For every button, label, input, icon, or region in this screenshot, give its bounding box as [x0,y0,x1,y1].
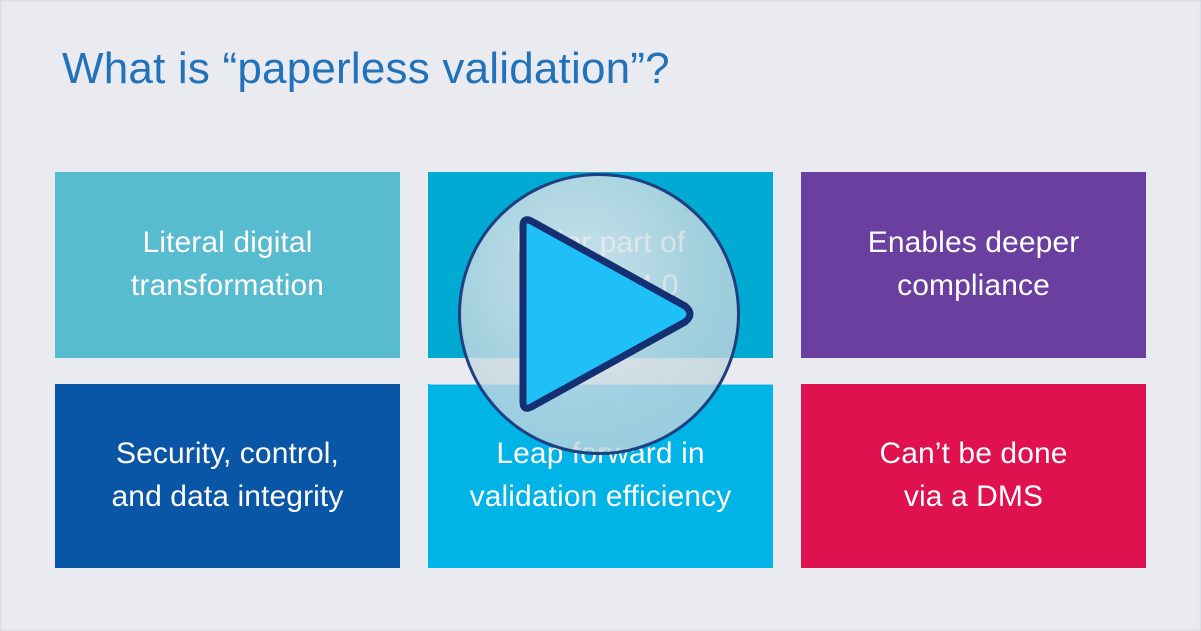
tile-security-control-and-data-integrity: Security, control, and data integrity [55,384,400,568]
play-triangle-icon [509,214,699,414]
tile-label: Can’t be done via a DMS [879,433,1067,518]
page-title: What is “paperless validation”? [62,44,670,95]
tile-enables-deeper-compliance: Enables deeper compliance [801,172,1146,358]
tile-literal-digital-transformation: Literal digital transformation [55,172,400,358]
tile-label: Security, control, and data integrity [112,433,344,518]
play-button[interactable] [458,173,740,455]
video-slide: What is “paperless validation”? Literal … [0,0,1201,631]
tile-cant-be-done-via-a-dms: Can’t be done via a DMS [801,384,1146,568]
tile-label: Literal digital transformation [131,222,324,307]
tile-label: Enables deeper compliance [868,222,1080,307]
